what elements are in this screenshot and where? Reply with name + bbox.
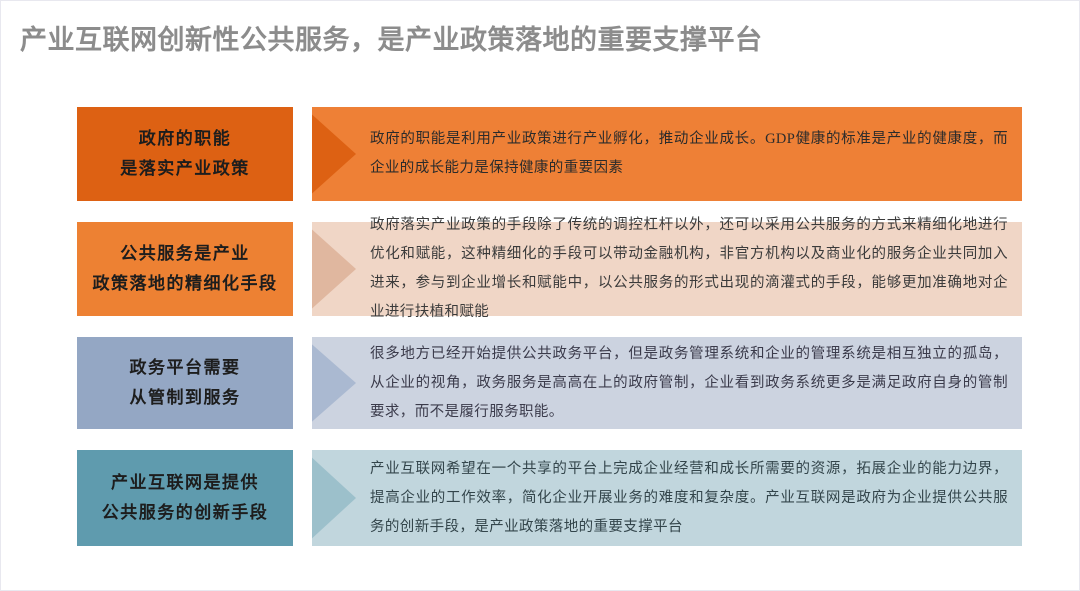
row-label-block[interactable]: 政务平台需要 从管制到服务 [77, 337, 293, 429]
row-label-text: 公共服务是产业 政策落地的精细化手段 [93, 239, 278, 299]
row-body-block[interactable]: 政府的职能是利用产业政策进行产业孵化，推动企业成长。GDP健康的标准是产业的健康… [312, 107, 1022, 201]
row-gap [293, 222, 312, 316]
row-label-block[interactable]: 公共服务是产业 政策落地的精细化手段 [77, 222, 293, 316]
row-body-block[interactable]: 产业互联网希望在一个共享的平台上完成企业经营和成长所需要的资源，拓展企业的能力边… [312, 450, 1022, 546]
row-body-text: 产业互联网希望在一个共享的平台上完成企业经营和成长所需要的资源，拓展企业的能力边… [312, 445, 1022, 552]
page-title: 产业互联网创新性公共服务，是产业政策落地的重要支撑平台 [20, 18, 763, 57]
row-gap [293, 450, 312, 546]
process-rows-container: 政府的职能 是落实产业政策 政府的职能是利用产业政策进行产业孵化，推动企业成长。… [77, 107, 1022, 546]
process-row: 公共服务是产业 政策落地的精细化手段 政府落实产业政策的手段除了传统的调控杠杆以… [77, 222, 1022, 316]
process-row: 政务平台需要 从管制到服务 很多地方已经开始提供公共政务平台，但是政务管理系统和… [77, 337, 1022, 429]
row-body-block[interactable]: 政府落实产业政策的手段除了传统的调控杠杆以外，还可以采用公共服务的方式来精细化地… [312, 222, 1022, 316]
row-label-block[interactable]: 政府的职能 是落实产业政策 [77, 107, 293, 201]
row-body-block[interactable]: 很多地方已经开始提供公共政务平台，但是政务管理系统和企业的管理系统是相互独立的孤… [312, 337, 1022, 429]
process-row: 政府的职能 是落实产业政策 政府的职能是利用产业政策进行产业孵化，推动企业成长。… [77, 107, 1022, 201]
row-gap [293, 337, 312, 429]
process-row: 产业互联网是提供 公共服务的创新手段 产业互联网希望在一个共享的平台上完成企业经… [77, 450, 1022, 546]
slide-canvas: 产业互联网创新性公共服务，是产业政策落地的重要支撑平台 政府的职能 是落实产业政… [0, 0, 1080, 591]
row-body-text: 很多地方已经开始提供公共政务平台，但是政务管理系统和企业的管理系统是相互独立的孤… [312, 330, 1022, 437]
row-label-block[interactable]: 产业互联网是提供 公共服务的创新手段 [77, 450, 293, 546]
row-gap [293, 107, 312, 201]
row-body-text: 政府的职能是利用产业政策进行产业孵化，推动企业成长。GDP健康的标准是产业的健康… [312, 115, 1022, 193]
row-label-text: 政务平台需要 从管制到服务 [130, 353, 241, 413]
row-label-text: 政府的职能 是落实产业政策 [120, 124, 250, 184]
row-label-text: 产业互联网是提供 公共服务的创新手段 [102, 468, 269, 528]
row-body-text: 政府落实产业政策的手段除了传统的调控杠杆以外，还可以采用公共服务的方式来精细化地… [312, 201, 1022, 337]
